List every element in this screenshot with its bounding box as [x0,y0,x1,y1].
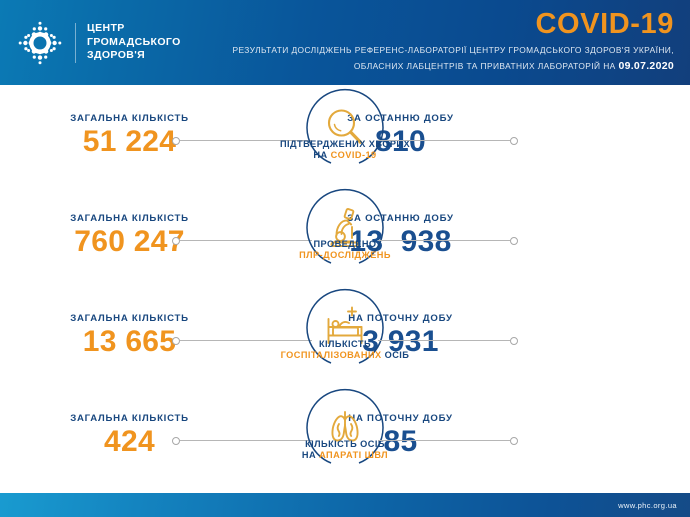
stat-total-caption: ЗАГАЛЬНА КІЛЬКІСТЬ [70,413,189,424]
stat-total-value: 424 [104,426,155,458]
stat-total-value: 13 665 [83,326,177,358]
connector-right [378,135,518,146]
connector-dot-icon [510,237,518,245]
header-title-block: COVID-19 РЕЗУЛЬТАТИ ДОСЛІДЖЕНЬ РЕФЕРЕНС-… [210,10,690,75]
organization-name: ЦЕНТР ГРОМАДСЬКОГО ЗДОРОВ'Я [87,22,181,64]
stat-total-value: 51 224 [83,126,177,158]
page-header: ЦЕНТР ГРОМАДСЬКОГО ЗДОРОВ'Я COVID-19 РЕЗ… [0,0,690,85]
organization-logo: ЦЕНТР ГРОМАДСЬКОГО ЗДОРОВ'Я [0,17,210,69]
medallion-label-line-2-a: ГОСПІТАЛІЗОВАНИХ [281,350,385,360]
connector-line [378,440,510,441]
statistics-rows: ЗАГАЛЬНА КІЛЬКІСТЬ 51 224 [0,85,690,485]
footer-website-link[interactable]: www.phc.org.ua [618,501,677,510]
report-date: 09.07.2020 [618,60,674,72]
stat-row-confirmed-cases: ЗАГАЛЬНА КІЛЬКІСТЬ 51 224 [0,85,690,185]
stat-total-caption: ЗАГАЛЬНА КІЛЬКІСТЬ [70,213,189,224]
medallion-label-line-2: НА АПАРАТІ ШВЛ [265,450,425,461]
stat-row-pcr-tests: ЗАГАЛЬНА КІЛЬКІСТЬ 760 247 [0,185,690,285]
subtitle-line-1: РЕЗУЛЬТАТИ ДОСЛІДЖЕНЬ РЕФЕРЕНС-ЛАБОРАТОР… [232,44,674,58]
org-name-line-3: ЗДОРОВ'Я [87,49,181,63]
connector-dot-icon [172,237,180,245]
connector-dot-icon [172,437,180,445]
connector-dot-icon [510,337,518,345]
connector-right [378,335,518,346]
medallion-label-line-2-b: АПАРАТІ ШВЛ [319,450,388,460]
phc-dot-diamond-logo-icon [14,17,66,69]
medallion-label-line-2: НА COVID-19 [265,150,425,161]
medallion-label-line-2-a: НА [313,150,330,160]
infographic-page: ЦЕНТР ГРОМАДСЬКОГО ЗДОРОВ'Я COVID-19 РЕЗ… [0,0,690,517]
connector-line [378,140,510,141]
medallion-label-line-2-b: COVID-19 [331,150,377,160]
stat-total-caption: ЗАГАЛЬНА КІЛЬКІСТЬ [70,113,189,124]
connector-line [378,340,510,341]
stat-total-value: 760 247 [74,226,185,258]
connector-right [378,435,518,446]
org-name-line-1: ЦЕНТР [87,22,181,36]
org-name-line-2: ГРОМАДСЬКОГО [87,36,181,50]
medallion-label-line-2: ПЛР-ДОСЛІДЖЕНЬ [265,250,425,261]
subtitle-line-2-text: ОБЛАСНИХ ЛАБЦЕНТРІВ ТА ПРИВАТНИХ ЛАБОРАТ… [354,61,619,71]
medallion-label-line-2-a: НА [302,450,319,460]
subtitle-line-2: ОБЛАСНИХ ЛАБЦЕНТРІВ ТА ПРИВАТНИХ ЛАБОРАТ… [354,58,674,75]
connector-right [378,235,518,246]
connector-dot-icon [510,137,518,145]
medallion-label-line-2-b: ПЛР-ДОСЛІДЖЕНЬ [299,250,391,260]
connector-line [378,240,510,241]
medallion-label-line-2: ГОСПІТАЛІЗОВАНИХ ОСІБ [265,350,425,361]
logo-divider [75,23,76,63]
stat-row-ventilator: ЗАГАЛЬНА КІЛЬКІСТЬ 424 [0,385,690,485]
stat-row-hospitalized: ЗАГАЛЬНА КІЛЬКІСТЬ 13 665 [0,285,690,385]
medallion-label-line-2-b: ОСІБ [385,350,410,360]
page-title: COVID-19 [535,10,674,39]
connector-dot-icon [172,137,180,145]
stat-total-caption: ЗАГАЛЬНА КІЛЬКІСТЬ [70,313,189,324]
page-footer: www.phc.org.ua [0,493,690,517]
connector-dot-icon [172,337,180,345]
connector-dot-icon [510,437,518,445]
